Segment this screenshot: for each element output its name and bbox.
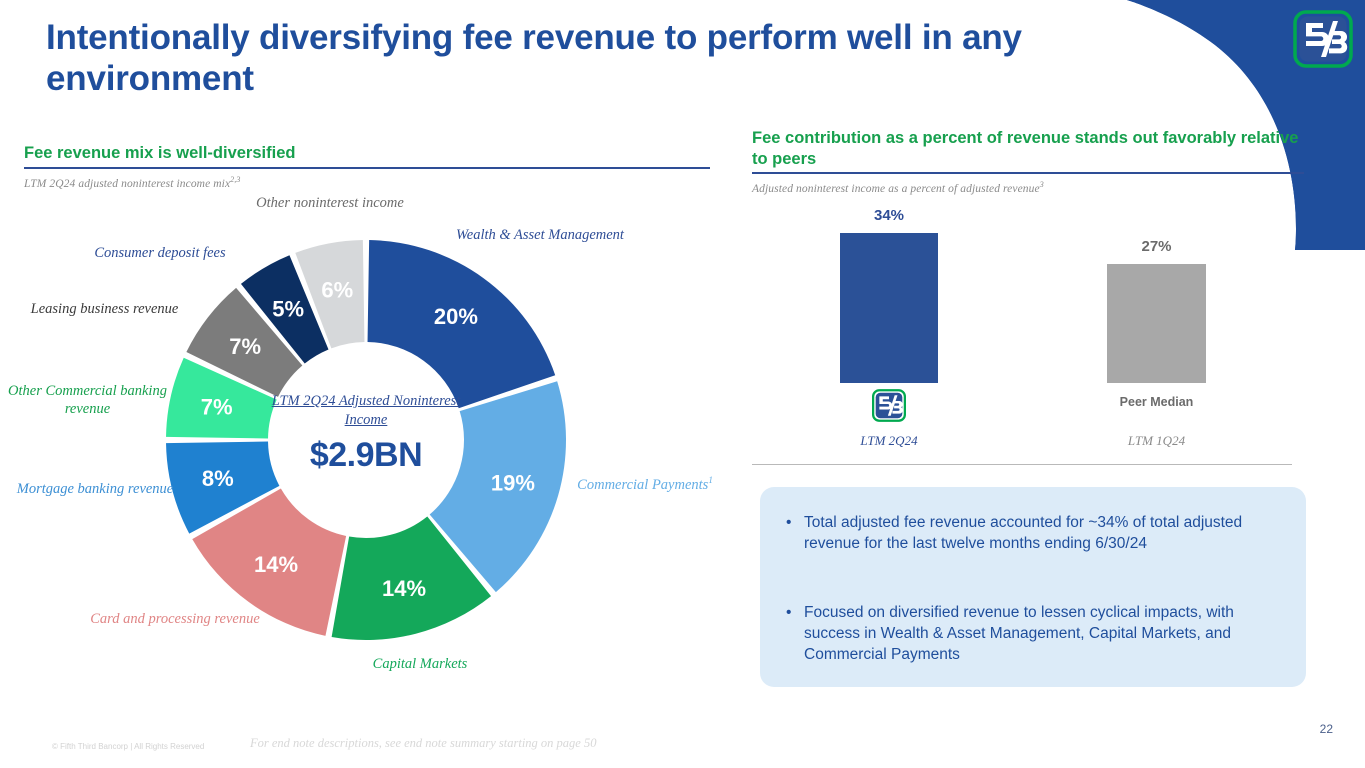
insights-callout-box: •Total adjusted fee revenue accounted fo… — [760, 487, 1306, 687]
bullet-marker: • — [786, 603, 804, 666]
left-panel-rule — [24, 167, 710, 169]
donut-slice-value: 7% — [201, 395, 233, 420]
slide-canvas: Intentionally diversifying fee revenue t… — [0, 0, 1365, 768]
donut-slice-value: 20% — [434, 304, 478, 329]
bar — [840, 233, 938, 383]
donut-slice-value: 6% — [321, 278, 353, 303]
fifth-third-logo-icon — [872, 389, 906, 422]
donut-category-label: Consumer deposit fees — [60, 244, 260, 262]
donut-category-label: Card and processing revenue — [85, 610, 265, 628]
donut-center-caption: LTM 2Q24 Adjusted Noninterest Income — [266, 392, 466, 430]
bar-value-label: 27% — [1097, 238, 1217, 255]
footer-endnote: For end note descriptions, see end note … — [250, 736, 596, 751]
donut-category-label: Other Commercial banking revenue — [0, 382, 175, 418]
left-panel-subtitle-text: LTM 2Q24 adjusted noninterest income mix — [24, 177, 230, 189]
bar-value-label: 34% — [829, 207, 949, 224]
footer-copyright: © Fifth Third Bancorp | All Rights Reser… — [52, 742, 204, 751]
page-title: Intentionally diversifying fee revenue t… — [46, 18, 1236, 99]
right-panel-subtitle-superscript: 3 — [1040, 180, 1044, 189]
right-panel-subtitle-text: Adjusted noninterest income as a percent… — [752, 183, 1040, 195]
fee-contribution-bar-chart: 34%LTM 2Q2427%Peer MedianLTM 1Q24 — [752, 215, 1304, 465]
donut-category-label: Commercial Payments1 — [570, 475, 720, 494]
bar-chart-axis-line — [752, 464, 1292, 465]
bar — [1107, 264, 1206, 383]
donut-category-label: Wealth & Asset Management — [455, 226, 625, 244]
right-panel-subtitle: Adjusted noninterest income as a percent… — [752, 180, 1304, 195]
left-panel-header-group: Fee revenue mix is well-diversified LTM … — [24, 143, 710, 189]
donut-slice-value: 14% — [382, 576, 426, 601]
fee-revenue-donut-chart: 20%19%14%14%8%7%7%5%6% LTM 2Q24 Adjusted… — [0, 200, 740, 700]
bar-period-label: LTM 1Q24 — [1077, 433, 1237, 449]
fifth-third-logo-icon — [1293, 10, 1353, 68]
donut-center-text: LTM 2Q24 Adjusted Noninterest Income $2.… — [266, 392, 466, 475]
donut-category-label: Capital Markets — [330, 655, 510, 673]
donut-label-superscript: 1 — [708, 475, 713, 485]
donut-category-label: Leasing business revenue — [22, 300, 187, 318]
donut-slice-value: 7% — [229, 334, 261, 359]
bar-period-label: LTM 2Q24 — [809, 433, 969, 449]
right-panel-header: Fee contribution as a percent of revenue… — [752, 128, 1304, 169]
right-panel-rule — [752, 172, 1304, 174]
donut-category-label: Other noninterest income — [240, 194, 420, 212]
left-panel-subtitle-superscript: 2,3 — [230, 175, 240, 184]
donut-slice-value: 14% — [254, 552, 298, 577]
bullet-marker: • — [786, 513, 804, 555]
bullet-text: Focused on diversified revenue to lessen… — [804, 603, 1280, 666]
bullet-item: •Total adjusted fee revenue accounted fo… — [786, 513, 1280, 555]
right-panel-header-group: Fee contribution as a percent of revenue… — [752, 128, 1304, 195]
bar-category-label: Peer Median — [1077, 395, 1237, 409]
left-panel-header: Fee revenue mix is well-diversified — [24, 143, 710, 164]
donut-slice-value: 5% — [272, 296, 304, 321]
bullet-text: Total adjusted fee revenue accounted for… — [804, 513, 1280, 555]
page-number: 22 — [1320, 722, 1333, 736]
bullet-item: •Focused on diversified revenue to lesse… — [786, 603, 1280, 666]
left-panel-subtitle: LTM 2Q24 adjusted noninterest income mix… — [24, 175, 710, 190]
donut-category-label: Mortgage banking revenue — [10, 480, 180, 498]
donut-slice-value: 8% — [202, 466, 234, 491]
donut-center-value: $2.9BN — [266, 436, 466, 475]
donut-slice-value: 19% — [491, 471, 535, 496]
